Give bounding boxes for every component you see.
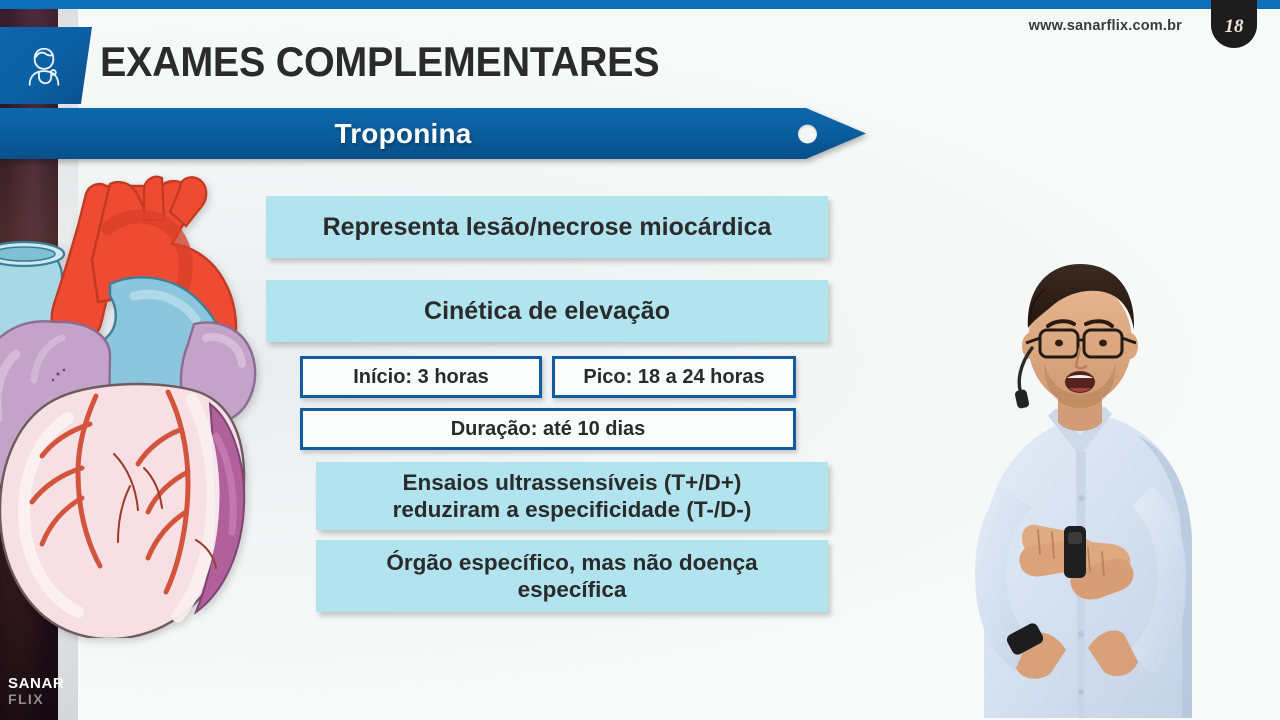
brand-logo: SANAR FLIX [8, 676, 64, 706]
content-box-cinetica: Cinética de elevação [266, 280, 828, 342]
brand-line-1: SANAR [8, 676, 64, 691]
page-number: 18 [1225, 10, 1244, 38]
content-box-orgao: Órgão específico, mas não doença específ… [316, 540, 828, 612]
content-box-ensaios: Ensaios ultrassensíveis (T+/D+) reduzira… [316, 462, 828, 530]
doctor-stethoscope-icon [21, 43, 67, 89]
content-box-ensaios-line1: Ensaios ultrassensíveis (T+/D+) [393, 469, 752, 496]
content-box-representa: Representa lesão/necrose miocárdica [266, 196, 828, 258]
banner-label: Troponina [0, 108, 806, 159]
brand-line-2: FLIX [8, 692, 64, 706]
content-box-pico: Pico: 18 a 24 horas [552, 356, 796, 398]
presenter-video-overlay [880, 230, 1280, 720]
site-url: www.sanarflix.com.br [1029, 18, 1182, 34]
top-accent-bar [0, 0, 1280, 9]
content-box-orgao-line2: específica [386, 576, 757, 603]
banner-hole-icon [798, 124, 817, 143]
content-box-ensaios-line2: reduziram a especificidade (T-/D-) [393, 496, 752, 523]
content-box-orgao-line1: Órgão específico, mas não doença [386, 549, 757, 576]
slide-canvas: EXAMES COMPLEMENTARES www.sanarflix.com.… [0, 0, 1280, 720]
page-number-badge: 18 [1211, 0, 1257, 48]
section-banner: Troponina [0, 108, 866, 159]
content-box-inicio: Início: 3 horas [300, 356, 542, 398]
page-title: EXAMES COMPLEMENTARES [100, 38, 659, 86]
content-box-duracao: Duração: até 10 dias [300, 408, 796, 450]
doctor-badge [0, 27, 92, 104]
